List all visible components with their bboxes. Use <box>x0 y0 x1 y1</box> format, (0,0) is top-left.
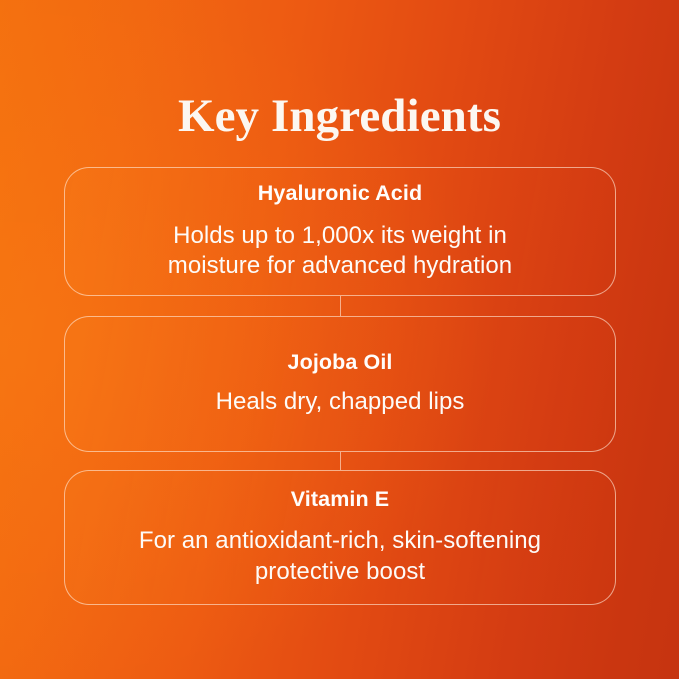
ingredient-name: Jojoba Oil <box>288 350 393 376</box>
ingredient-card: Jojoba Oil Heals dry, chapped lips <box>64 316 616 452</box>
ingredient-card: Vitamin E For an antioxidant-rich, skin-… <box>64 470 616 605</box>
content-area: Key Ingredients Hyaluronic Acid Holds up… <box>0 0 679 679</box>
ingredient-name: Vitamin E <box>291 487 389 513</box>
card-connector-line <box>340 296 341 316</box>
ingredient-description: For an antioxidant-rich, skin-softening … <box>125 526 555 587</box>
ingredient-description: Heals dry, chapped lips <box>216 387 465 418</box>
page-title: Key Ingredients <box>0 92 679 142</box>
card-connector-line <box>340 452 341 470</box>
ingredient-description: Holds up to 1,000x its weight in moistur… <box>125 221 555 282</box>
ingredient-name: Hyaluronic Acid <box>258 181 422 207</box>
ingredient-card: Hyaluronic Acid Holds up to 1,000x its w… <box>64 167 616 296</box>
ingredients-infographic: Key Ingredients Hyaluronic Acid Holds up… <box>0 0 679 679</box>
